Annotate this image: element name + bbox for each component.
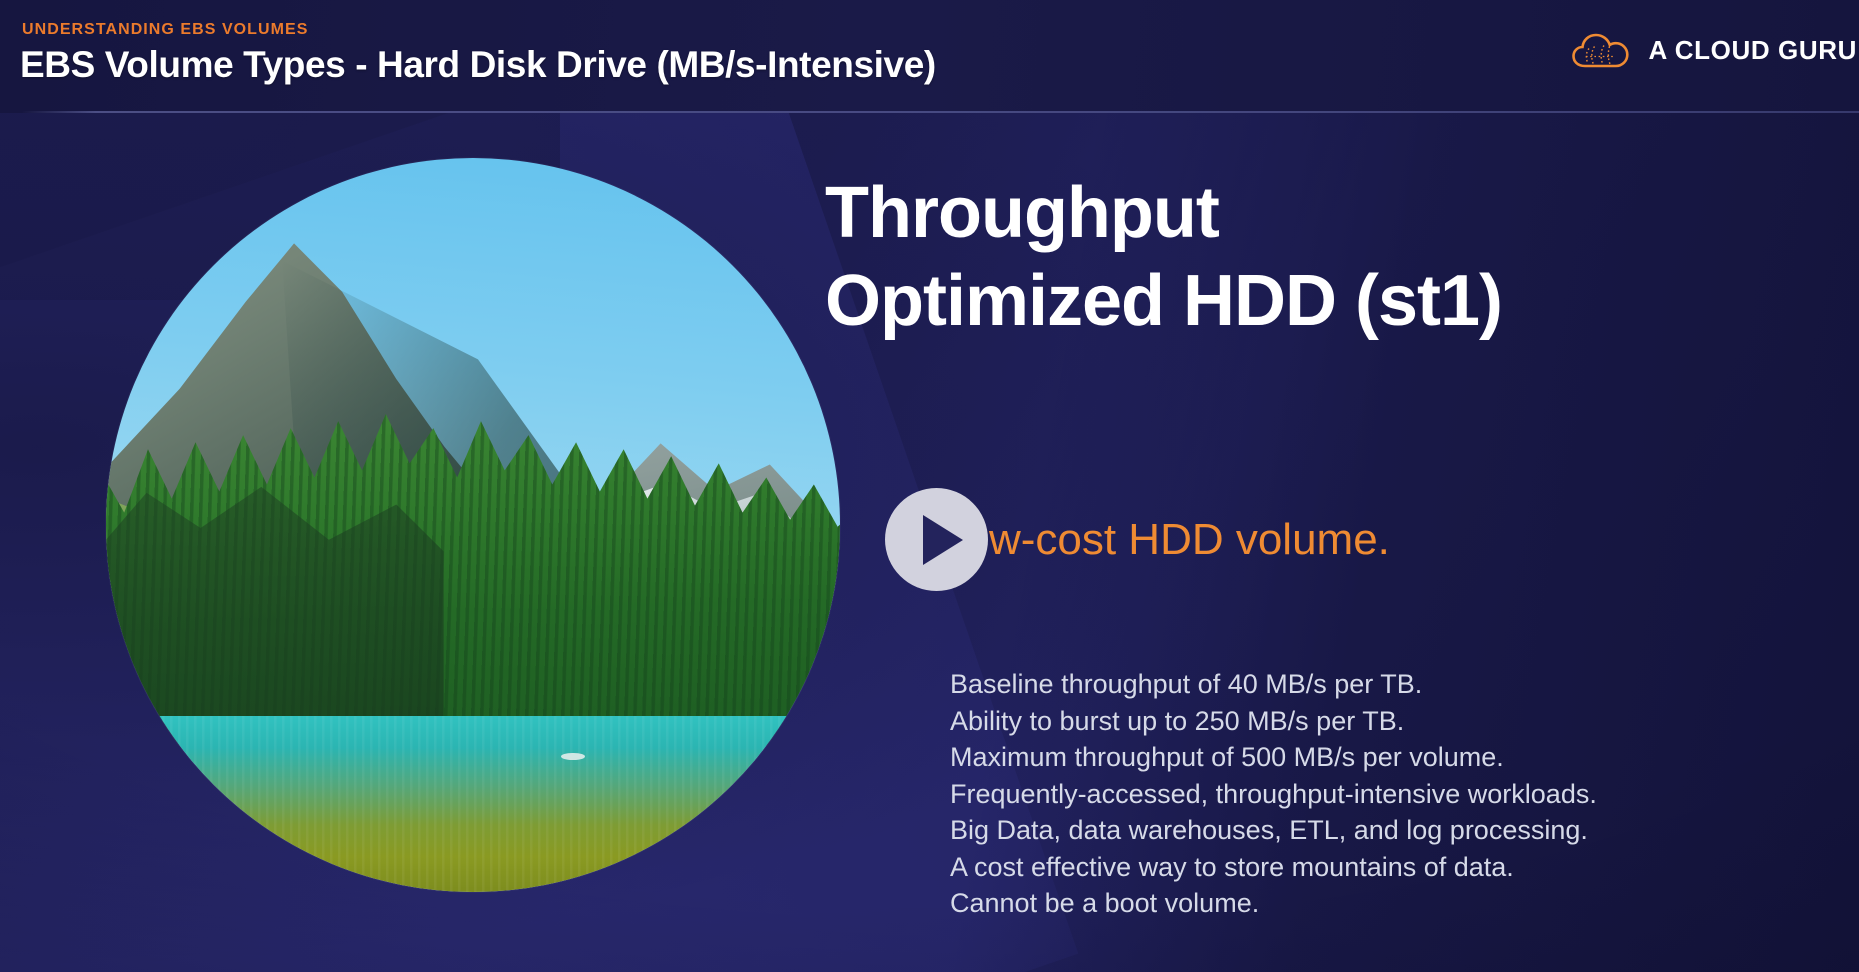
cloud-icon <box>1571 28 1635 72</box>
list-item: A cost effective way to store mountains … <box>950 849 1597 886</box>
header-divider <box>22 111 1859 113</box>
list-item: Cannot be a boot volume. <box>950 885 1597 922</box>
list-item: Baseline throughput of 40 MB/s per TB. <box>950 666 1597 703</box>
list-item: Ability to burst up to 250 MB/s per TB. <box>950 703 1597 740</box>
play-button[interactable] <box>885 488 988 591</box>
brand-name: A CLOUD GURU <box>1649 35 1857 66</box>
header-eyebrow: UNDERSTANDING EBS VOLUMES <box>22 21 308 39</box>
hero-photo <box>106 158 840 892</box>
list-item: Maximum throughput of 500 MB/s per volum… <box>950 739 1597 776</box>
subhead-text: Low-cost HDD volume. <box>940 515 1390 565</box>
page-title: EBS Volume Types - Hard Disk Drive (MB/s… <box>20 44 936 86</box>
list-item: Big Data, data warehouses, ETL, and log … <box>950 812 1597 849</box>
list-item: Frequently-accessed, throughput-intensiv… <box>950 776 1597 813</box>
bullet-list: Baseline throughput of 40 MB/s per TB. A… <box>950 666 1597 922</box>
subhead-row: Low-cost HDD volume. <box>885 488 1390 591</box>
headline-line-2: Optimized HDD (st1) <box>825 258 1815 346</box>
photo-boat <box>561 753 584 760</box>
brand-logo: A CLOUD GURU <box>1571 28 1857 72</box>
headline-line-1: Throughput <box>825 170 1815 258</box>
play-icon <box>923 515 963 565</box>
photo-lake-reflection <box>106 716 840 892</box>
slide-root: UNDERSTANDING EBS VOLUMES EBS Volume Typ… <box>0 0 1859 972</box>
headline: Throughput Optimized HDD (st1) <box>825 170 1815 346</box>
